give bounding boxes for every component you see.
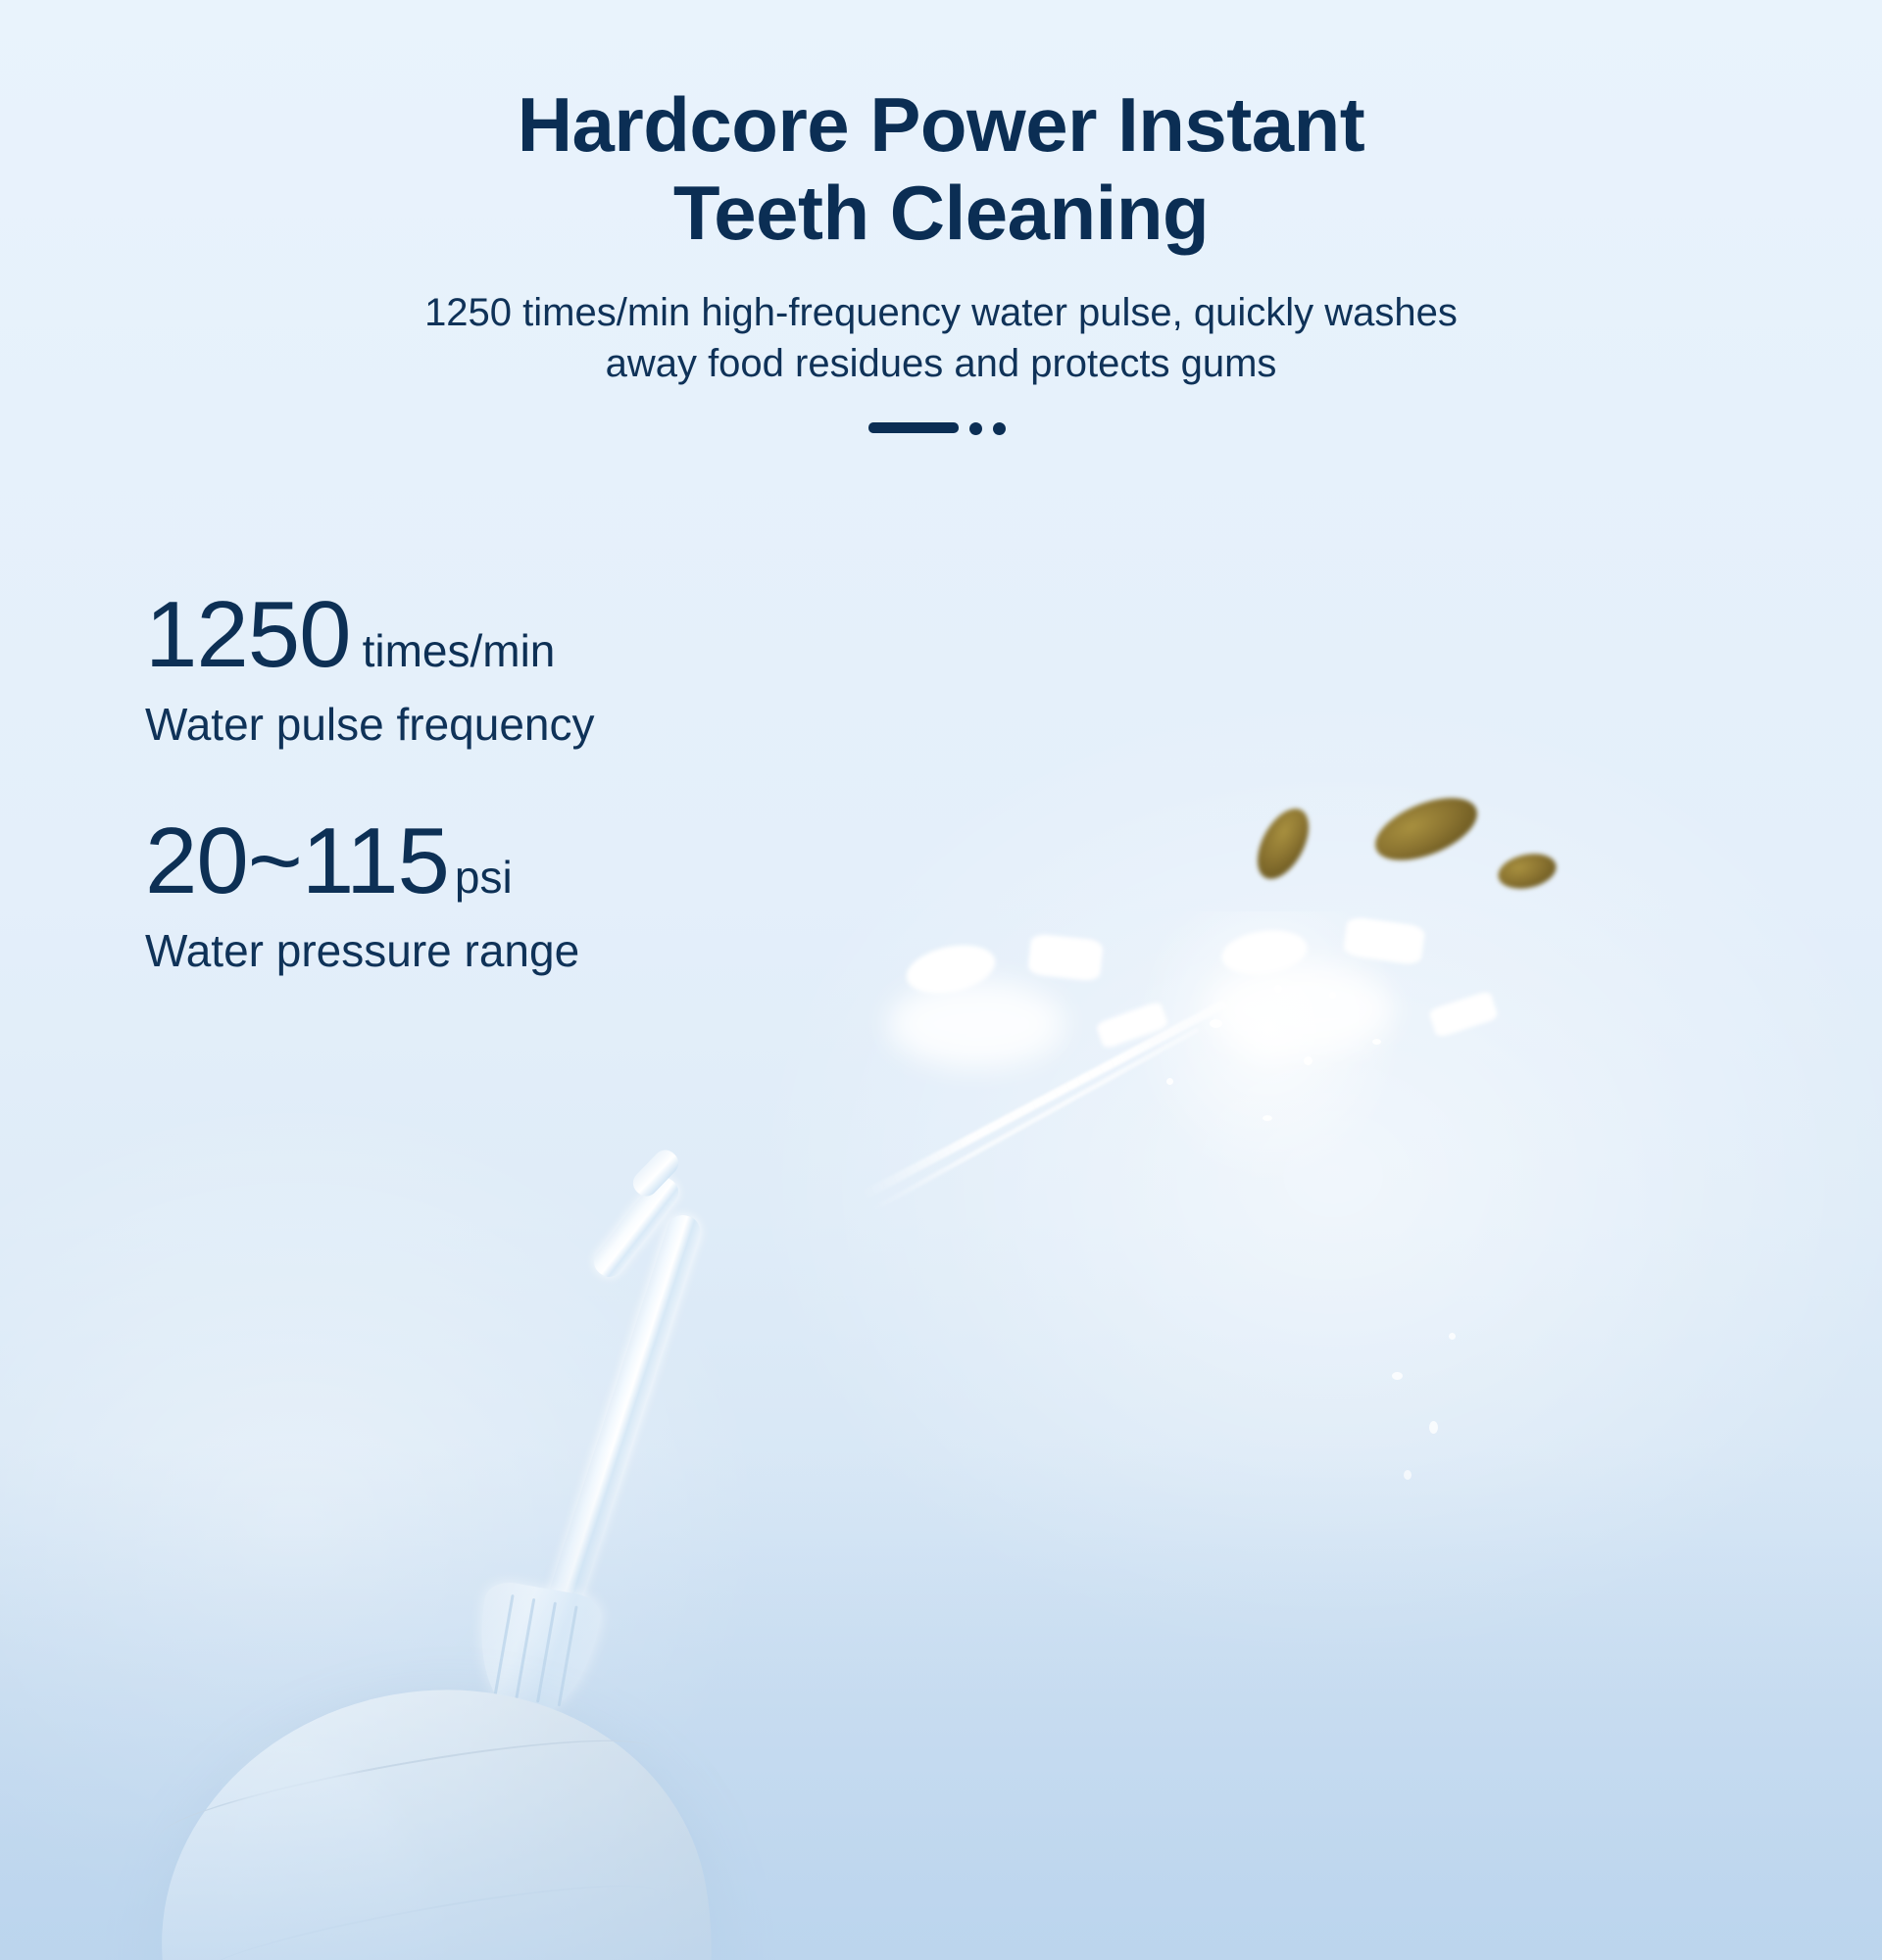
spec-list: 1250times/min Water pulse frequency 20~1… <box>145 588 949 1041</box>
splash-droplet-10 <box>1429 1421 1438 1434</box>
spec-item-pressure: 20~115psi Water pressure range <box>145 814 949 978</box>
splash-droplet-12 <box>1449 1333 1456 1340</box>
flosser-body <box>124 1647 760 1960</box>
splash-droplet-1 <box>1237 941 1248 952</box>
collar-rib-4 <box>558 1605 578 1706</box>
tooth-right-highlight-3 <box>1428 991 1499 1039</box>
splash-droplet-3 <box>1210 1019 1222 1028</box>
header-block: Hardcore Power Instant Teeth Cleaning 12… <box>0 0 1882 440</box>
page-subtitle-line-1: 1250 times/min high-frequency water puls… <box>424 291 1458 334</box>
spec-item-frequency: 1250times/min Water pulse frequency <box>145 588 949 752</box>
food-particle-1 <box>1247 801 1319 888</box>
food-particle-2 <box>1366 785 1485 872</box>
splash-droplet-5 <box>1166 1078 1173 1085</box>
page-subtitle: 1250 times/min high-frequency water puls… <box>176 258 1706 389</box>
splash-droplet-9 <box>1392 1372 1403 1380</box>
splash-droplet-7 <box>1329 992 1336 999</box>
tooth-right-highlight-2 <box>1343 916 1426 966</box>
page-title-line-1: Hardcore Power Instant <box>518 81 1365 168</box>
section-divider <box>868 415 1014 440</box>
divider-dot-1 <box>969 422 982 435</box>
page-subtitle-line-2: away food residues and protects gums <box>176 338 1706 389</box>
molar-teeth-illustration <box>863 882 1853 1744</box>
product-feature-banner: Hardcore Power Instant Teeth Cleaning 12… <box>0 0 1882 1960</box>
water-flosser-device[interactable] <box>206 1176 872 1960</box>
splash-droplet-8 <box>1372 1039 1381 1045</box>
spec-unit-pressure: psi <box>455 852 513 903</box>
spec-value-row: 20~115psi <box>145 814 949 908</box>
tooth-left-soft-glow <box>888 980 1065 1068</box>
divider-bar <box>868 422 959 433</box>
spec-unit-frequency: times/min <box>363 625 556 676</box>
tooth-right-soft-glow <box>1208 964 1394 1054</box>
splash-droplet-4 <box>1304 1056 1312 1065</box>
divider-dot-2 <box>993 422 1006 435</box>
spec-value-row: 1250times/min <box>145 588 949 682</box>
splash-droplet-2 <box>1274 985 1282 993</box>
collar-rib-3 <box>536 1602 557 1703</box>
spec-value-frequency: 1250 <box>145 582 351 687</box>
page-title-line-2: Teeth Cleaning <box>0 169 1882 257</box>
collar-rib-1 <box>494 1594 515 1695</box>
spec-label-frequency: Water pulse frequency <box>145 698 949 752</box>
collar-rib-2 <box>515 1598 535 1699</box>
spec-label-pressure: Water pressure range <box>145 924 949 978</box>
page-title: Hardcore Power Instant Teeth Cleaning <box>0 0 1882 258</box>
splash-droplet-6 <box>1263 1115 1272 1121</box>
spec-value-pressure: 20~115 <box>145 808 449 913</box>
tooth-left-highlight-2 <box>1027 933 1104 982</box>
splash-droplet-11 <box>1404 1470 1411 1480</box>
